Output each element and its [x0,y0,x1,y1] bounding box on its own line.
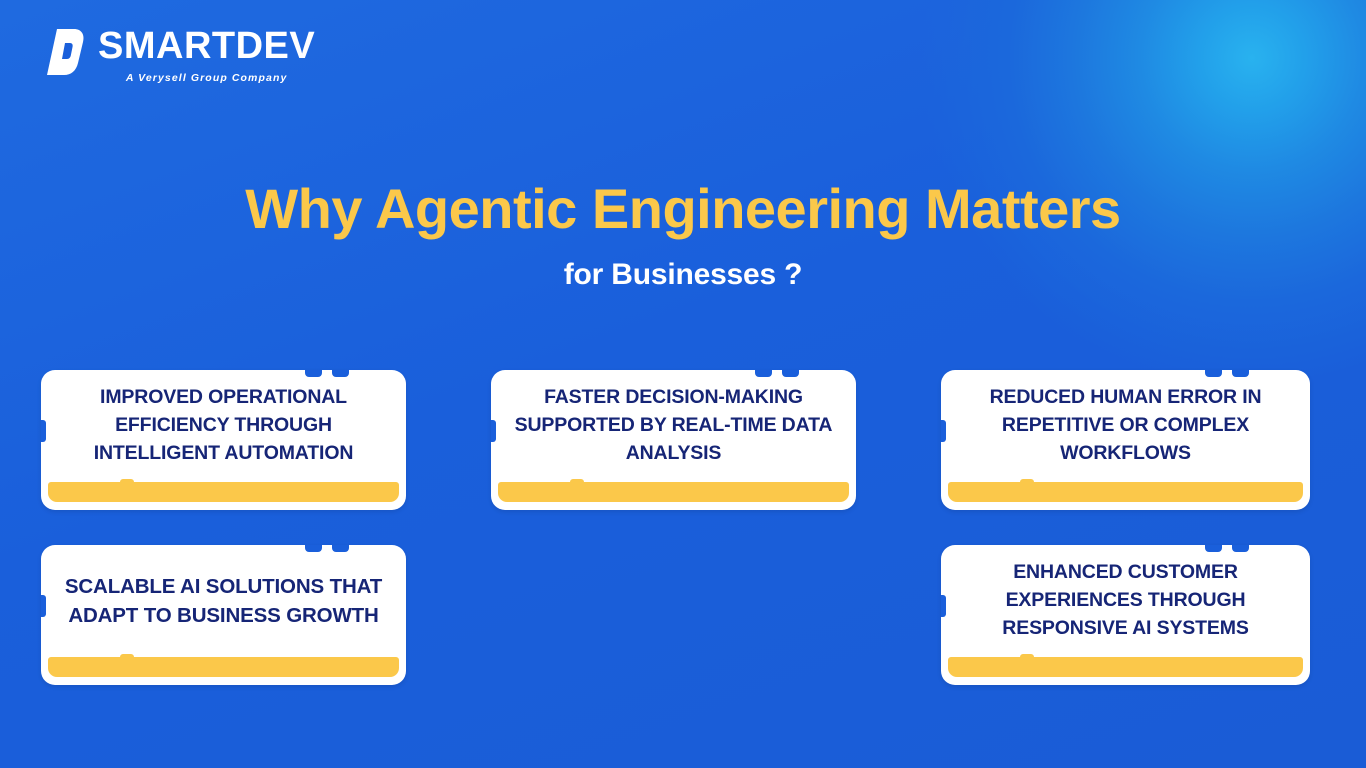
page-title: Why Agentic Engineering Matters [0,178,1366,241]
card-scalable-ai-solutions[interactable]: SCALABLE AI SOLUTIONS THAT ADAPT TO BUSI… [41,545,406,685]
card-label: IMPROVED OPERATIONAL EFFICIENCY THROUGH … [50,370,397,482]
card-left-notch-icon [941,595,946,617]
card-left-notch-icon [491,420,496,442]
card-label: REDUCED HUMAN ERROR IN REPETITIVE OR COM… [950,370,1301,482]
card-operational-efficiency[interactable]: IMPROVED OPERATIONAL EFFICIENCY THROUGH … [41,370,406,510]
card-label: FASTER DECISION-MAKING SUPPORTED BY REAL… [500,370,847,482]
card-left-notch-icon [41,595,46,617]
card-reduced-human-error[interactable]: REDUCED HUMAN ERROR IN REPETITIVE OR COM… [941,370,1310,510]
card-accent-bar [498,482,849,502]
card-label: ENHANCED CUSTOMER EXPERIENCES THROUGH RE… [950,545,1301,657]
card-accent-bar-bump-icon [120,479,134,484]
card-left-notch-icon [941,420,946,442]
card-accent-bar-bump-icon [1020,654,1034,659]
card-faster-decision-making[interactable]: FASTER DECISION-MAKING SUPPORTED BY REAL… [491,370,856,510]
headings-block: Why Agentic Engineering Matters for Busi… [0,178,1366,292]
card-accent-bar-bump-icon [1020,479,1034,484]
card-enhanced-customer-experiences[interactable]: ENHANCED CUSTOMER EXPERIENCES THROUGH RE… [941,545,1310,685]
card-left-notch-icon [41,420,46,442]
brand-logo: SMARTDEV A Verysell Group Company [44,25,315,84]
card-label: SCALABLE AI SOLUTIONS THAT ADAPT TO BUSI… [50,545,397,657]
slide-canvas: SMARTDEV A Verysell Group Company Why Ag… [0,0,1366,768]
benefit-cards-grid: IMPROVED OPERATIONAL EFFICIENCY THROUGH … [41,370,1325,685]
card-accent-bar [948,482,1303,502]
card-accent-bar-bump-icon [570,479,584,484]
card-accent-bar [48,482,399,502]
brand-text-block: SMARTDEV A Verysell Group Company [98,25,315,84]
brand-tagline: A Verysell Group Company [126,72,288,84]
card-accent-bar [48,657,399,677]
card-accent-bar [948,657,1303,677]
page-subtitle: for Businesses ? [0,258,1366,292]
smartdev-d-mark-icon [44,27,86,77]
brand-name: SMARTDEV [98,27,315,65]
card-accent-bar-bump-icon [120,654,134,659]
